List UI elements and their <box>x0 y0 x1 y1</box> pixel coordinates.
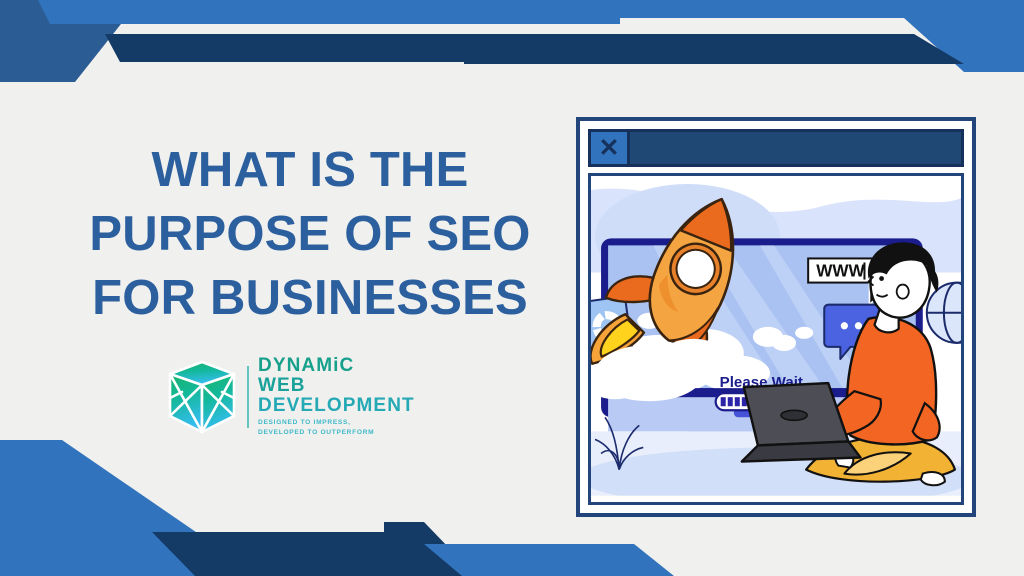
headline-line-1: WHAT IS THE <box>60 138 560 202</box>
faceted-cube-logo-mark-icon <box>166 358 238 436</box>
headline-block: WHAT IS THE PURPOSE OF SEO FOR BUSINESSE… <box>60 138 560 331</box>
brand-logo: DYNAMiC WEB DEVELOPMENT DESIGNED TO IMPR… <box>166 356 415 438</box>
logo-tagline-line-1: DESIGNED TO IMPRESS, <box>258 418 415 428</box>
headline-line-3: FOR BUSINESSES <box>60 266 560 330</box>
text-caret <box>863 262 865 279</box>
seo-scene: WWW <box>591 176 961 505</box>
logo-tagline: DESIGNED TO IMPRESS, DEVELOPED TO OUTPER… <box>258 418 415 438</box>
corner-decor-top-right <box>464 0 1024 112</box>
address-text: WWW <box>816 262 865 281</box>
close-icon[interactable]: ✕ <box>591 132 630 164</box>
corner-decor-bottom-left <box>0 440 560 576</box>
corner-decor-top-left <box>0 0 620 110</box>
logo-divider <box>247 366 249 428</box>
page-title: WHAT IS THE PURPOSE OF SEO FOR BUSINESSE… <box>60 138 560 331</box>
logo-tagline-line-2: DEVELOPED TO OUTPERFORM <box>258 428 415 438</box>
headline-line-2: PURPOSE OF SEO <box>60 202 560 266</box>
logo-word-web: WEB <box>258 376 415 396</box>
browser-window-titlebar: ✕ <box>588 129 964 167</box>
logo-word-development: DEVELOPMENT <box>258 396 415 416</box>
illustration-frame: ✕ <box>576 117 976 517</box>
logo-wordmark: DYNAMiC WEB DEVELOPMENT DESIGNED TO IMPR… <box>258 356 415 438</box>
titlebar-strip <box>630 132 961 164</box>
logo-word-dynamic: DYNAMiC <box>258 356 415 376</box>
browser-window-body: WWW <box>588 173 964 505</box>
poster-canvas: WHAT IS THE PURPOSE OF SEO FOR BUSINESSE… <box>0 0 1024 576</box>
